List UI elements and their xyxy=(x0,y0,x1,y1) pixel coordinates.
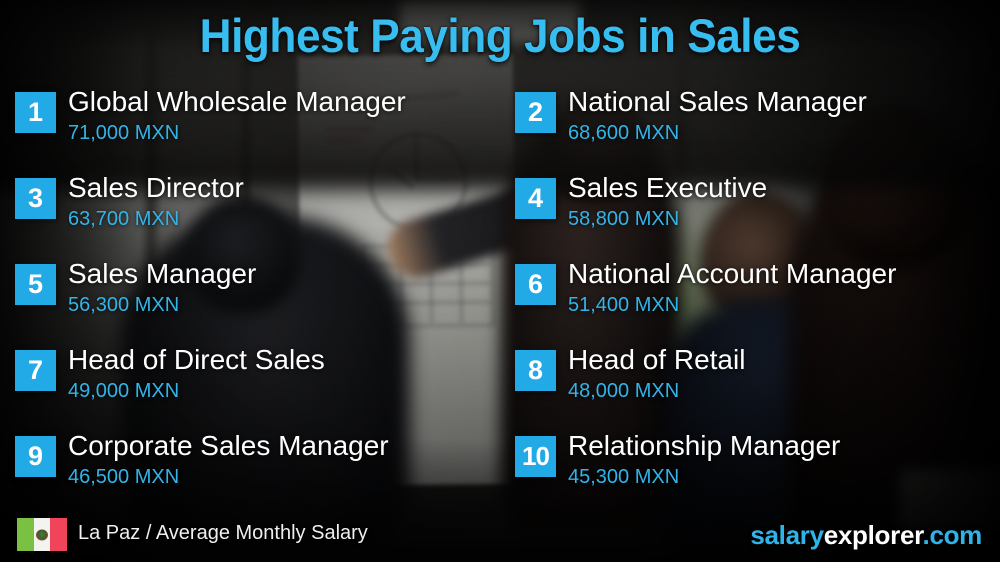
job-entry-9[interactable]: 9 Corporate Sales Manager 46,500 MXN xyxy=(0,430,500,516)
job-title: National Account Manager xyxy=(568,258,896,290)
brand-part-explorer: explorer xyxy=(824,520,923,550)
job-salary: 51,400 MXN xyxy=(568,294,679,317)
location-salary-label: La Paz / Average Monthly Salary xyxy=(78,522,368,545)
footer: La Paz / Average Monthly Salary salaryex… xyxy=(0,508,1000,562)
job-title: Sales Director xyxy=(68,172,244,204)
job-entry-5[interactable]: 5 Sales Manager 56,300 MXN xyxy=(0,258,500,344)
rank-badge: 9 xyxy=(15,436,56,477)
job-salary: 58,800 MXN xyxy=(568,208,679,231)
job-title: Sales Executive xyxy=(568,172,767,204)
job-title: Relationship Manager xyxy=(568,430,840,462)
flag-emblem-icon xyxy=(36,529,48,540)
infographic-canvas: Highest Paying Jobs in Sales 1 Global Wh… xyxy=(0,0,1000,562)
job-entry-3[interactable]: 3 Sales Director 63,700 MXN xyxy=(0,172,500,258)
mexico-flag-icon xyxy=(17,518,67,551)
job-salary: 63,700 MXN xyxy=(68,208,179,231)
page-title: Highest Paying Jobs in Sales xyxy=(30,8,970,63)
job-entry-10[interactable]: 10 Relationship Manager 45,300 MXN xyxy=(500,430,1000,516)
flag-band-red xyxy=(50,518,67,551)
job-salary: 48,000 MXN xyxy=(568,380,679,403)
brand-part-tld: .com xyxy=(923,520,982,550)
jobs-list: 1 Global Wholesale Manager 71,000 MXN 2 … xyxy=(0,86,1000,516)
rank-badge: 8 xyxy=(515,350,556,391)
job-salary: 49,000 MXN xyxy=(68,380,179,403)
job-entry-8[interactable]: 8 Head of Retail 48,000 MXN xyxy=(500,344,1000,430)
job-entry-7[interactable]: 7 Head of Direct Sales 49,000 MXN xyxy=(0,344,500,430)
job-entry-1[interactable]: 1 Global Wholesale Manager 71,000 MXN xyxy=(0,86,500,172)
brand-logo[interactable]: salaryexplorer.com xyxy=(750,520,982,551)
job-entry-2[interactable]: 2 National Sales Manager 68,600 MXN xyxy=(500,86,1000,172)
job-title: National Sales Manager xyxy=(568,86,867,118)
job-entry-6[interactable]: 6 National Account Manager 51,400 MXN xyxy=(500,258,1000,344)
job-title: Global Wholesale Manager xyxy=(68,86,406,118)
rank-badge: 3 xyxy=(15,178,56,219)
rank-badge: 5 xyxy=(15,264,56,305)
rank-badge: 4 xyxy=(515,178,556,219)
job-title: Head of Retail xyxy=(568,344,745,376)
job-salary: 71,000 MXN xyxy=(68,122,179,145)
brand-part-salary: salary xyxy=(750,520,823,550)
rank-badge: 7 xyxy=(15,350,56,391)
job-salary: 46,500 MXN xyxy=(68,466,179,489)
rank-badge: 10 xyxy=(515,436,556,477)
job-title: Head of Direct Sales xyxy=(68,344,325,376)
rank-badge: 1 xyxy=(15,92,56,133)
rank-badge: 2 xyxy=(515,92,556,133)
flag-band-white xyxy=(34,518,51,551)
job-salary: 45,300 MXN xyxy=(568,466,679,489)
job-entry-4[interactable]: 4 Sales Executive 58,800 MXN xyxy=(500,172,1000,258)
job-title: Sales Manager xyxy=(68,258,256,290)
job-salary: 56,300 MXN xyxy=(68,294,179,317)
job-salary: 68,600 MXN xyxy=(568,122,679,145)
rank-badge: 6 xyxy=(515,264,556,305)
job-title: Corporate Sales Manager xyxy=(68,430,389,462)
flag-band-green xyxy=(17,518,34,551)
